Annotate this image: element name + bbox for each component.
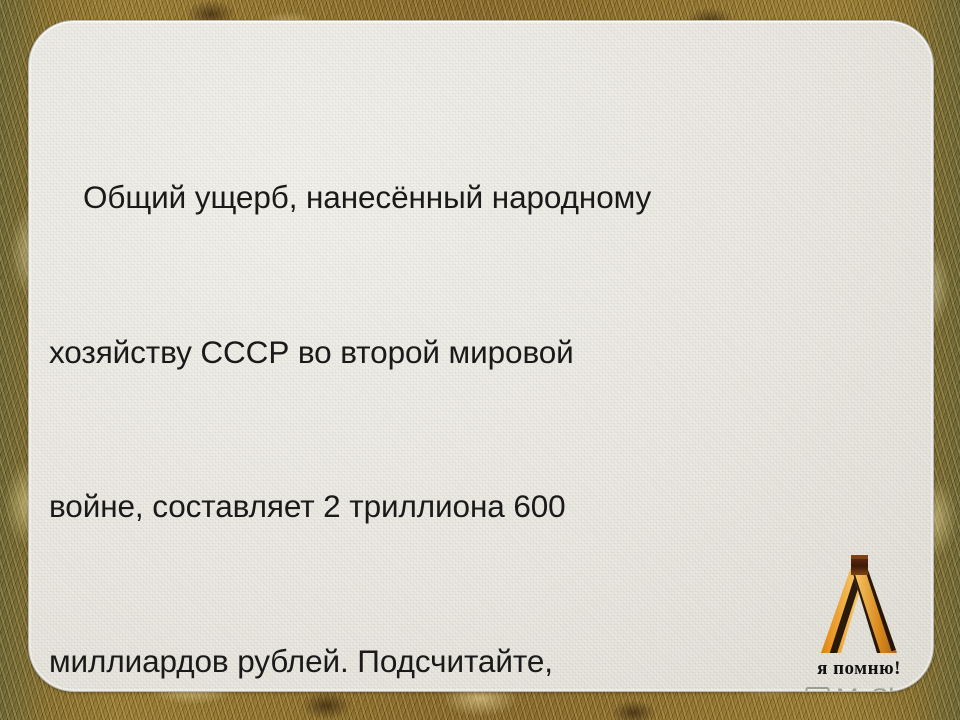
remembrance-ribbon-block: я помню!	[789, 549, 929, 680]
text-line-2: хозяйству СССР во второй мировой	[49, 327, 907, 379]
myshared-watermark: MyShared	[804, 683, 934, 692]
watermark-label: MyShared	[836, 683, 934, 692]
st-george-ribbon-icon	[811, 549, 907, 657]
slide-body-text: Общий ущерб, нанесённый народному хозяйс…	[49, 69, 907, 692]
ribbon-caption: я помню!	[789, 658, 929, 680]
slide-stage: Общий ущерб, нанесённый народному хозяйс…	[0, 0, 960, 720]
content-card: Общий ущерб, нанесённый народному хозяйс…	[28, 20, 934, 692]
presentation-screen-icon	[804, 686, 831, 693]
text-line-3: войне, составляет 2 триллиона 600	[49, 481, 907, 533]
text-line-1: Общий ущерб, нанесённый народному	[49, 172, 907, 224]
text-line-4: миллиардов рублей. Подсчитайте,	[49, 636, 907, 688]
